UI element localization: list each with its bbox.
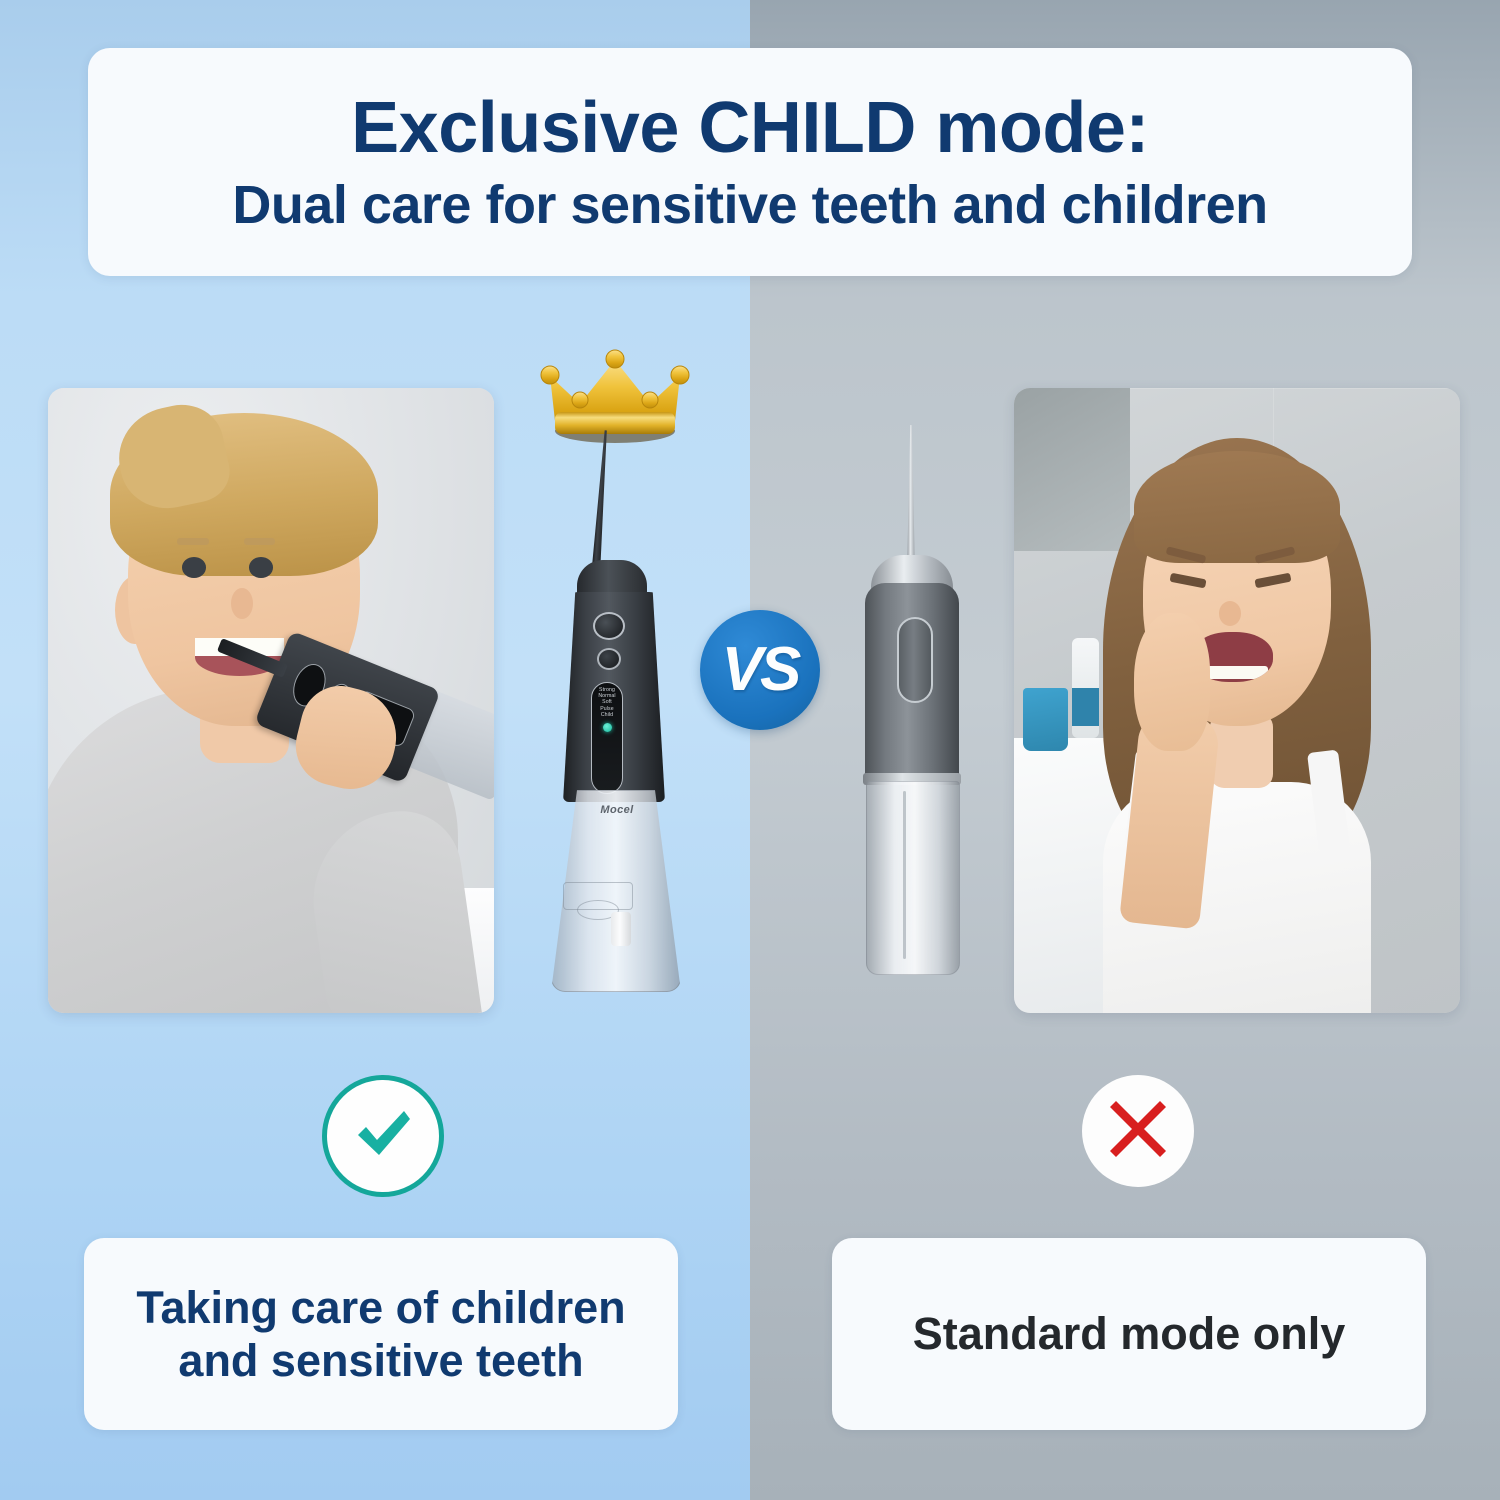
main-flosser-power-button <box>593 612 625 640</box>
caption-card-left: Taking care of children and sensitive te… <box>84 1238 678 1430</box>
girl-hand-on-cheek <box>1134 613 1210 751</box>
caption-card-right: Standard mode only <box>832 1238 1426 1430</box>
main-flosser-nozzle <box>591 430 610 580</box>
competitor-flosser-power-button <box>897 617 933 703</box>
page-subtitle: Dual care for sensitive teeth and childr… <box>232 178 1267 232</box>
cross-icon <box>1104 1095 1172 1168</box>
girl-bangs <box>1134 451 1339 564</box>
competitor-flosser-intake-tube <box>903 791 906 959</box>
main-flosser-tank-plug <box>611 912 631 946</box>
main-flosser-mode-panel: Strong Normal Soft Pulse Child <box>591 682 623 794</box>
child-mode-led-icon <box>603 723 612 732</box>
boy-eyebrow-left <box>177 538 208 545</box>
page-title: Exclusive CHILD mode: <box>351 92 1149 164</box>
boy-eyebrow-right <box>244 538 275 545</box>
caption-right-text: Standard mode only <box>891 1307 1368 1360</box>
girl-toothpaste-label <box>1072 688 1099 726</box>
photo-boy-using-flosser <box>48 388 494 1013</box>
photo-crying-girl <box>1014 388 1460 1013</box>
boy-eye-right <box>249 557 274 578</box>
girl-nose <box>1219 601 1241 626</box>
brand-logo: Mocel <box>587 802 647 818</box>
vs-badge: VS <box>700 610 820 730</box>
product-competitor-flosser <box>845 425 995 980</box>
infographic-root: Exclusive CHILD mode: Dual care for sens… <box>0 0 1500 1500</box>
header-card: Exclusive CHILD mode: Dual care for sens… <box>88 48 1412 276</box>
cross-badge <box>1082 1075 1194 1187</box>
competitor-flosser-nozzle <box>907 425 915 573</box>
girl-bathroom-mirror <box>1014 388 1130 551</box>
vs-label: VS <box>722 639 799 701</box>
check-badge <box>322 1075 444 1197</box>
check-icon <box>346 1097 420 1176</box>
caption-left-text: Taking care of children and sensitive te… <box>84 1281 678 1387</box>
main-flosser-mode-button <box>597 648 621 670</box>
product-main-flosser: Strong Normal Soft Pulse Child Mocel <box>533 430 698 990</box>
girl-blue-cup <box>1023 688 1068 751</box>
boy-eye-left <box>182 557 207 578</box>
competitor-flosser-water-tank <box>866 781 960 975</box>
mode-label-child: Child <box>601 713 613 718</box>
